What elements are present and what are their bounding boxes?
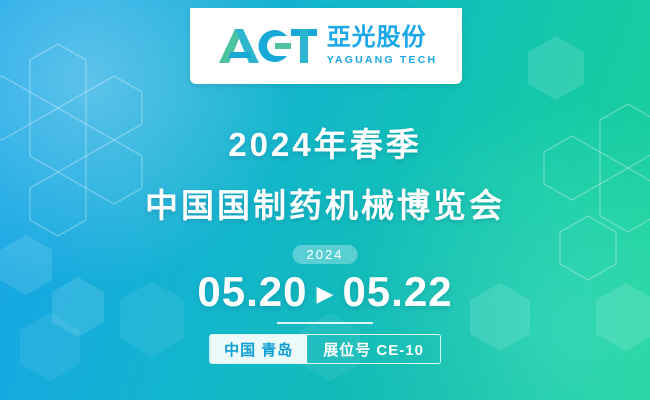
- agt-logo-icon: [215, 23, 319, 69]
- banner-headline: 2024年春季 中国国制药机械博览会: [0, 118, 650, 227]
- event-date-range: 05.20 ▶ 05.22: [0, 268, 650, 316]
- booth-number: 展位号 CE-10: [307, 335, 440, 363]
- venue-location: 中国 青岛: [210, 335, 307, 363]
- venue-info-bar: 中国 青岛 展位号 CE-10: [209, 334, 441, 364]
- event-start-date: 05.20: [197, 268, 307, 316]
- headline-line-2: 中国国制药机械博览会: [0, 179, 650, 227]
- headline-line-1: 2024年春季: [0, 118, 650, 166]
- company-logo-card: 亞光股份 YAGUANG TECH: [190, 8, 462, 84]
- logo-company-name-en: YAGUANG TECH: [327, 55, 438, 66]
- arrow-right-icon: ▶: [317, 283, 334, 305]
- date-underline-divider: [277, 322, 373, 324]
- logo-company-name-cn: 亞光股份: [327, 26, 438, 50]
- exhibition-banner: 亞光股份 YAGUANG TECH 2024年春季 中国国制药机械博览会 202…: [0, 0, 650, 400]
- year-badge: 2024: [293, 245, 358, 264]
- event-end-date: 05.22: [342, 268, 452, 316]
